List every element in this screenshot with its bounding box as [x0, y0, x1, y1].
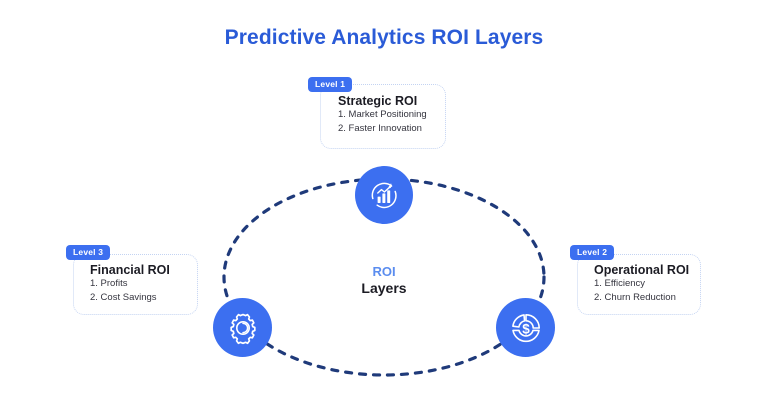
- card-item-3-1: 1. Profits: [90, 277, 197, 291]
- center-label-roi: ROI: [314, 264, 454, 280]
- diagram-canvas: Predictive Analytics ROI Layers ROI Laye…: [0, 0, 768, 403]
- card-item-1-1: 1. Market Positioning: [338, 108, 445, 122]
- level-card-1[interactable]: Strategic ROI 1. Market Positioning 2. F…: [320, 84, 446, 149]
- card-title-3: Financial ROI: [90, 263, 197, 277]
- svg-text:$: $: [522, 321, 530, 336]
- level-badge-1: Level 1: [308, 77, 352, 92]
- center-label: ROI Layers: [314, 264, 454, 298]
- level-card-2[interactable]: Operational ROI 1. Efficiency 2. Churn R…: [577, 254, 701, 315]
- card-item-2-1: 1. Efficiency: [594, 277, 700, 291]
- level-card-3[interactable]: Financial ROI 1. Profits 2. Cost Savings: [73, 254, 198, 315]
- level-badge-2: Level 2: [570, 245, 614, 260]
- bar-chart-growth-icon[interactable]: [355, 166, 413, 224]
- dollar-donut-icon[interactable]: $: [496, 298, 555, 357]
- card-title-1: Strategic ROI: [338, 94, 445, 108]
- card-item-3-2: 2. Cost Savings: [90, 291, 197, 305]
- card-item-1-2: 2. Faster Innovation: [338, 122, 445, 136]
- card-title-2: Operational ROI: [594, 263, 700, 277]
- gear-icon[interactable]: [213, 298, 272, 357]
- center-label-layers: Layers: [314, 280, 454, 298]
- level-badge-3: Level 3: [66, 245, 110, 260]
- card-item-2-2: 2. Churn Reduction: [594, 291, 700, 305]
